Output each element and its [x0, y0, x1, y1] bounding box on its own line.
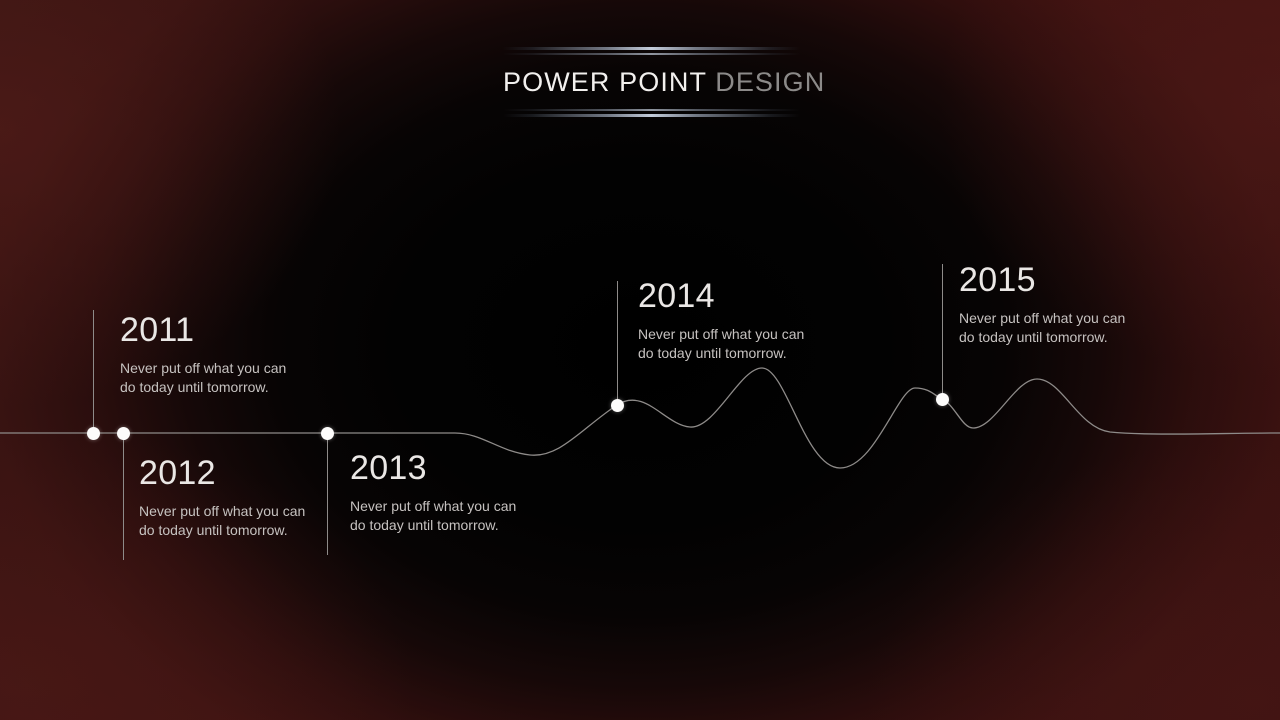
milestone-2011[interactable]: 2011 Never put off what you can do today…: [120, 313, 300, 397]
milestone-description-2011: Never put off what you can do today unti…: [120, 359, 300, 397]
milestone-year-2011: 2011: [120, 313, 300, 347]
milestone-dot-2011[interactable]: [87, 427, 100, 440]
milestone-year-2014: 2014: [638, 279, 818, 313]
milestone-description-2014: Never put off what you can do today unti…: [638, 325, 818, 363]
milestone-year-2015: 2015: [959, 263, 1139, 297]
milestone-dot-2012[interactable]: [117, 427, 130, 440]
milestone-dot-2013[interactable]: [321, 427, 334, 440]
stem-2011: [93, 310, 94, 434]
milestone-2014[interactable]: 2014 Never put off what you can do today…: [638, 279, 818, 363]
milestone-2015[interactable]: 2015 Never put off what you can do today…: [959, 263, 1139, 347]
stem-2012: [123, 433, 124, 560]
milestone-2012[interactable]: 2012 Never put off what you can do today…: [139, 456, 319, 540]
milestone-description-2015: Never put off what you can do today unti…: [959, 309, 1139, 347]
milestone-year-2013: 2013: [350, 451, 530, 485]
milestone-year-2012: 2012: [139, 456, 319, 490]
slide-canvas: POWER POINT DESIGN 2011 Never put off wh…: [0, 0, 1280, 720]
milestone-2013[interactable]: 2013 Never put off what you can do today…: [350, 451, 530, 535]
milestone-description-2013: Never put off what you can do today unti…: [350, 497, 530, 535]
stem-2014: [617, 281, 618, 406]
stem-2015: [942, 264, 943, 400]
milestone-dot-2015[interactable]: [936, 393, 949, 406]
milestone-dot-2014[interactable]: [611, 399, 624, 412]
stem-2013: [327, 433, 328, 555]
milestone-description-2012: Never put off what you can do today unti…: [139, 502, 319, 540]
